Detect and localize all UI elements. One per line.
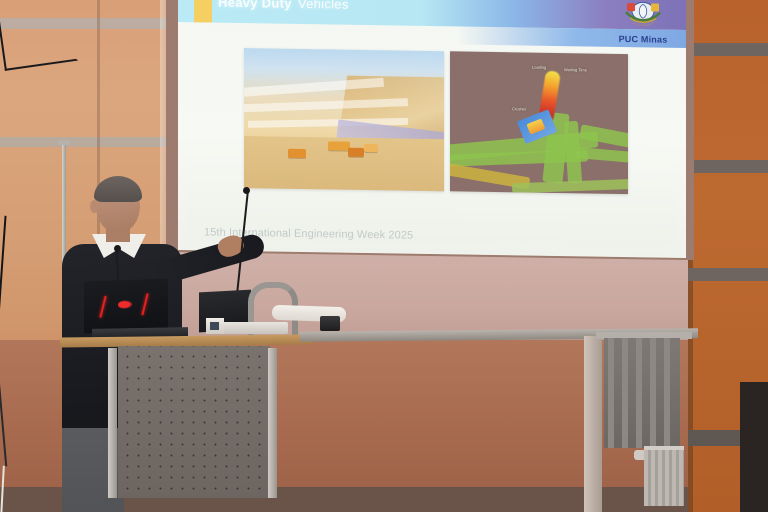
radiator-fin (622, 338, 628, 448)
presenter-ear (90, 200, 99, 213)
radiator-fin (664, 338, 670, 448)
microphone-capsule-icon (243, 187, 250, 194)
lectern-leg (108, 348, 117, 498)
route-label: Loading (532, 65, 546, 70)
slide-image-haul-route-heatmap: Loading Waiting Time Crusher (450, 51, 628, 194)
radiator-fin (636, 338, 642, 448)
slide-image-open-pit-mine (244, 48, 444, 191)
av-control-box[interactable] (206, 318, 224, 334)
radiator-fin (608, 338, 614, 448)
perforated-panel-texture (118, 346, 270, 498)
wall-trim-band (688, 43, 768, 56)
route-label: Waiting Time (564, 67, 587, 72)
route-label: Crusher (512, 106, 526, 111)
gaming-laptop[interactable] (84, 279, 168, 334)
presenter-hair (94, 176, 142, 202)
structural-post (584, 336, 602, 512)
radiator-unit (644, 446, 684, 506)
presentation-room-photo: Heavy DutyVehicles PUC Minas (0, 0, 768, 512)
haul-truck (364, 144, 378, 152)
slide-title: Heavy DutyVehicles (218, 0, 349, 12)
radiator-panel (604, 338, 680, 448)
wall-trim-band (688, 160, 768, 173)
document-camera-base (222, 322, 288, 334)
puc-minas-crest-icon (621, 0, 665, 34)
laptop-accent-stripe (99, 296, 106, 318)
floor-cable (0, 0, 78, 71)
laptop-accent-stripe (141, 293, 148, 315)
slide-title-secondary: Vehicles (298, 0, 349, 12)
microphone-capsule-icon (114, 245, 121, 252)
haul-truck (348, 148, 364, 157)
doorway-shadow (740, 382, 768, 512)
slide-title-primary: Heavy Duty (218, 0, 292, 11)
institution-logo: PUC Minas (606, 0, 680, 52)
institution-logo-label: PUC Minas (619, 34, 668, 45)
haul-truck (328, 141, 350, 150)
lectern-panel (118, 346, 270, 498)
floor-stand-cap (58, 140, 70, 145)
haul-truck (288, 149, 306, 158)
wall-trim-band (0, 137, 178, 147)
radiator-fin (650, 338, 656, 448)
document-camera-lens-icon (320, 316, 340, 331)
projection-screen: Heavy DutyVehicles PUC Minas (178, 0, 686, 258)
lectern-leg (268, 348, 277, 498)
slide-accent-block (194, 0, 212, 23)
rog-logo-icon (118, 300, 133, 310)
wall-trim-band (688, 268, 768, 281)
